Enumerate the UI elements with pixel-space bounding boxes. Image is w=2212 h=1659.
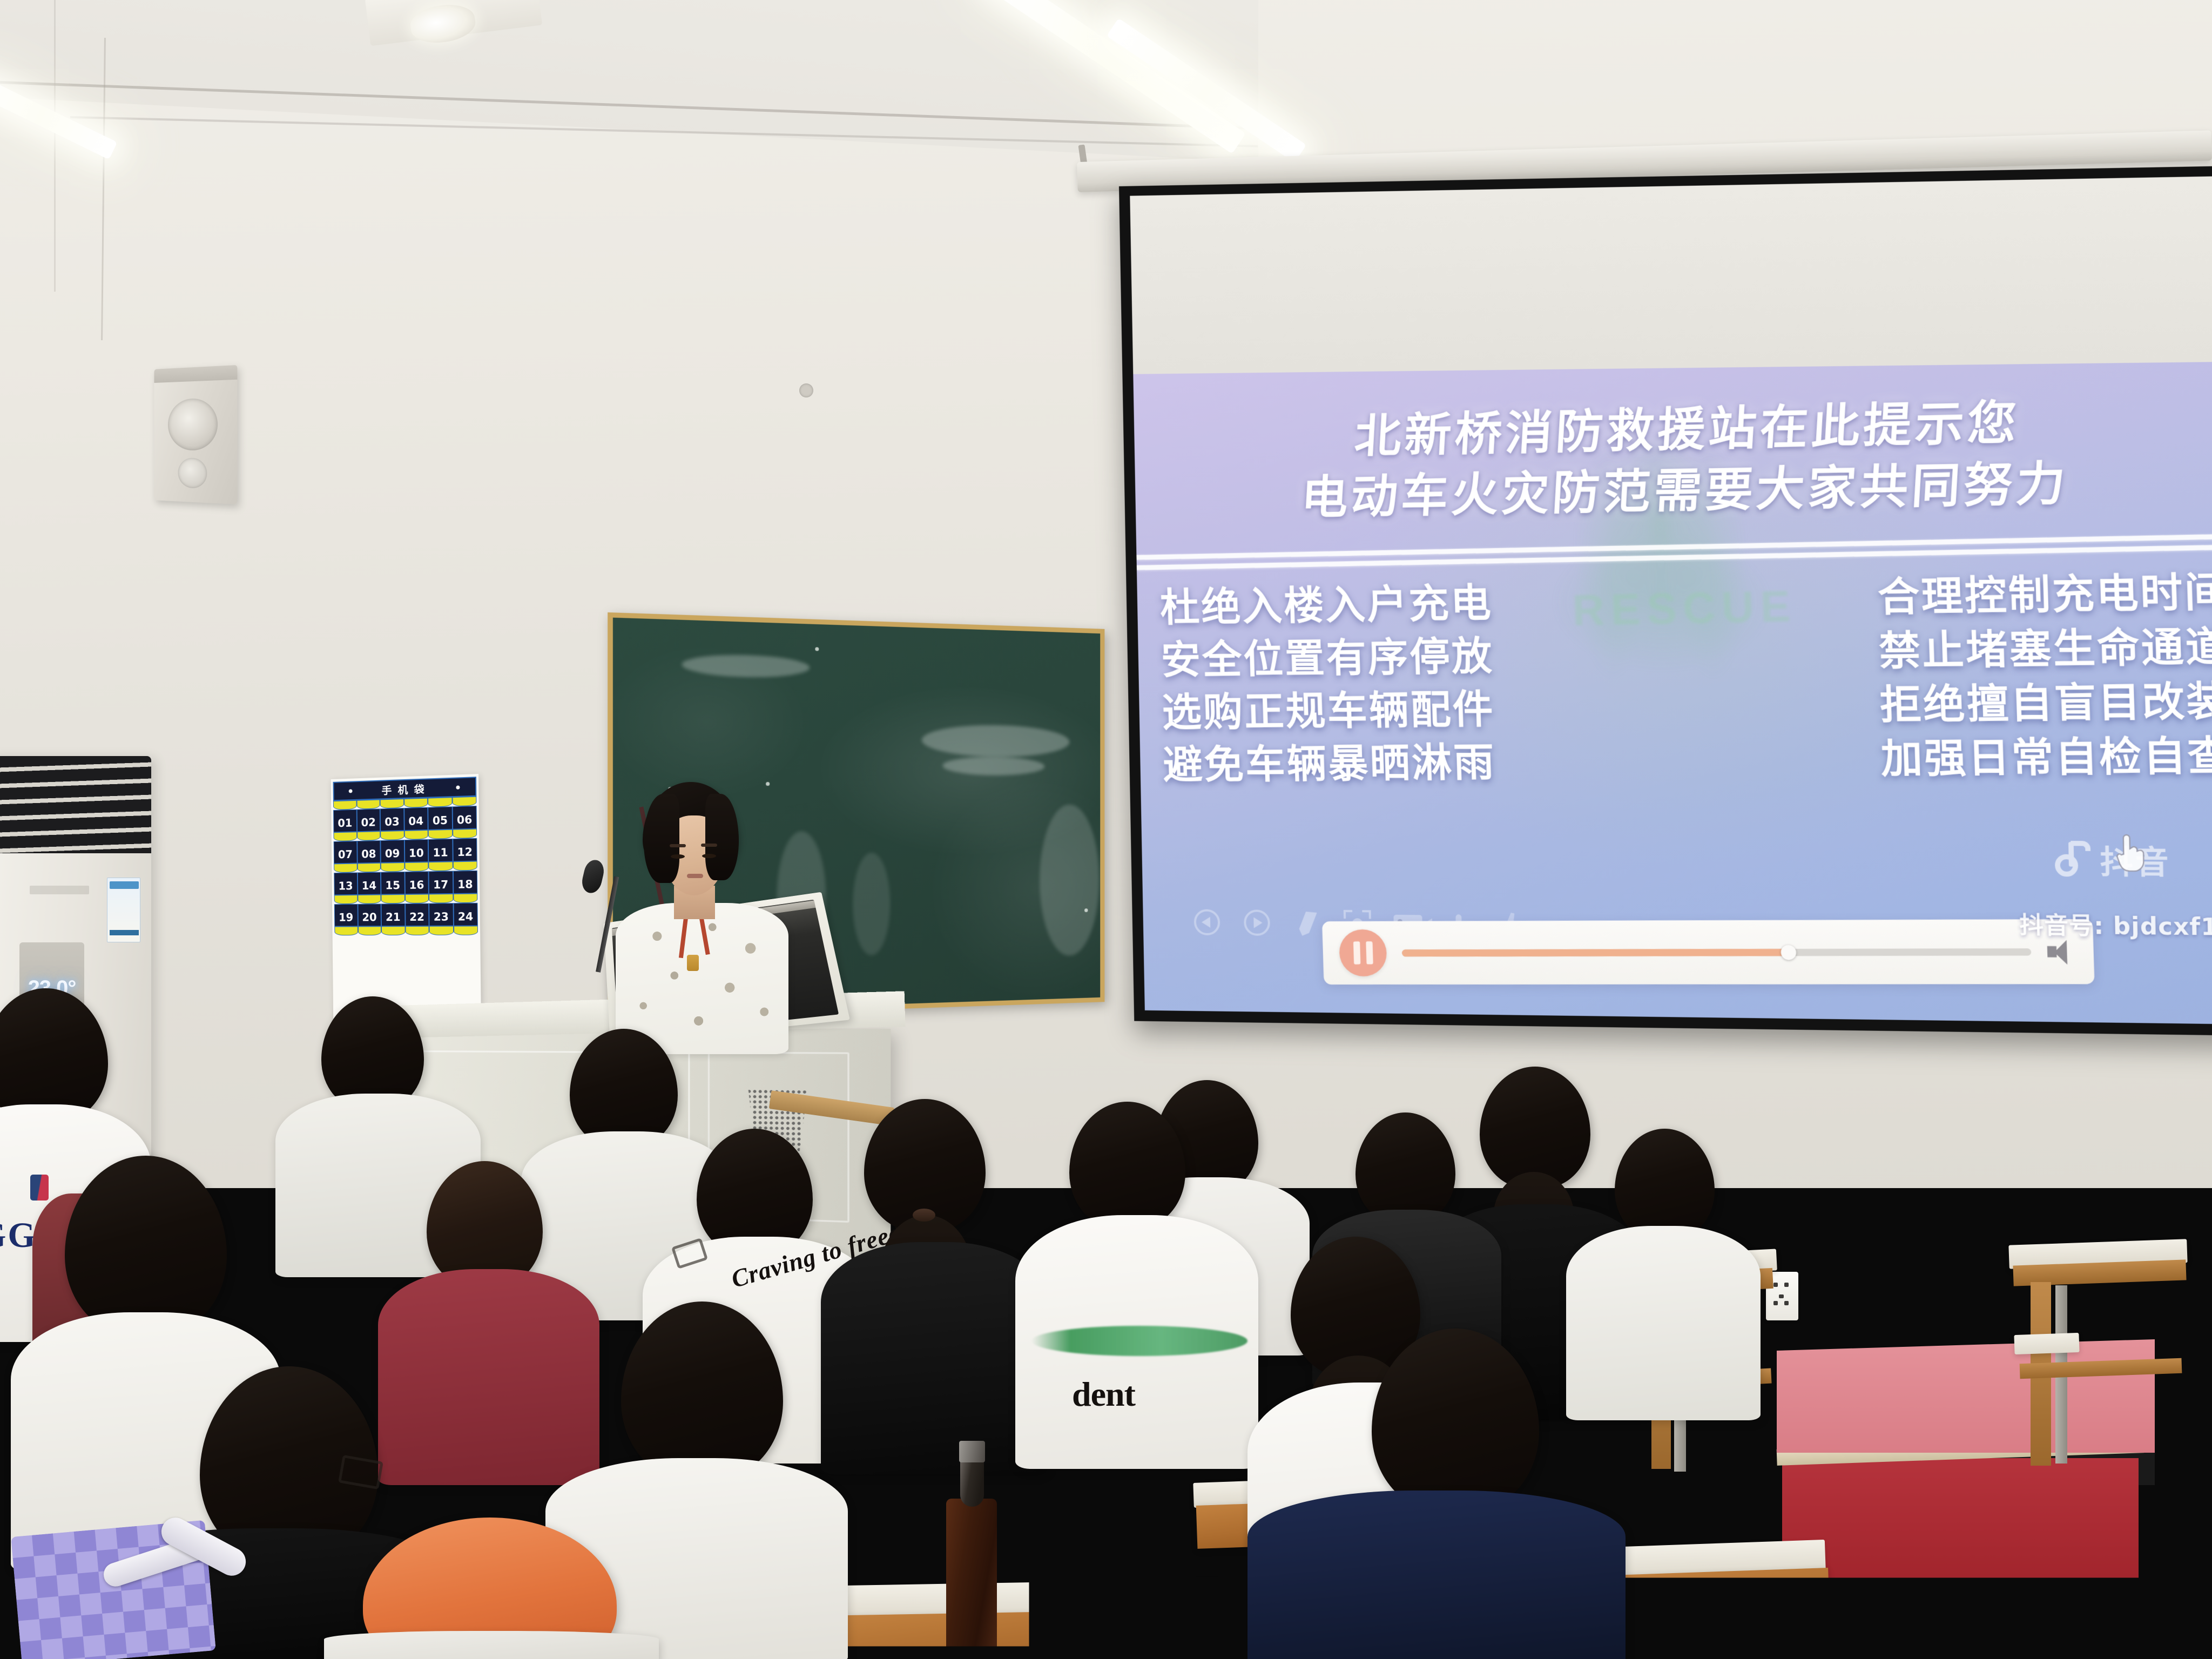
pocket-cell[interactable]: 16: [404, 871, 429, 894]
slogan-left: 避免车辆暴晒淋雨: [1163, 743, 1496, 785]
volume-icon[interactable]: [2047, 939, 2076, 965]
chalk-smudge: [853, 853, 890, 956]
pocket-flap: [404, 798, 428, 808]
sticker-footer-bar: [110, 930, 139, 935]
classroom-scene: 23.0° 手 机 袋 0102030405060708091011121314…: [0, 0, 2212, 1659]
seating-riser-front: [1782, 1458, 2139, 1620]
slogan-row: 安全位置有序停放禁止堵塞生命通道: [1161, 626, 2212, 680]
media-control-bar[interactable]: [1322, 919, 2095, 984]
student-torso: [378, 1269, 599, 1485]
previous-icon[interactable]: [1192, 908, 1221, 936]
presenter-eye: [702, 854, 716, 858]
pocket-flap: [381, 926, 405, 935]
student-torso: [821, 1242, 1048, 1474]
progress-knob[interactable]: [1781, 945, 1796, 960]
shirt-green-brushstroke: [1031, 1326, 1247, 1356]
pocket-cell[interactable]: 02: [356, 808, 380, 832]
pocket-flap: [453, 893, 478, 903]
pocket-cell[interactable]: 12: [453, 838, 477, 861]
phone-pocket-chart: 手 机 袋 0102030405060708091011121314151617…: [331, 774, 481, 1021]
pocket-flap: [404, 862, 429, 872]
pocket-cell[interactable]: 24: [453, 903, 478, 926]
pocket-cell[interactable]: 19: [334, 904, 358, 927]
air-conditioner-brand-plate: [30, 886, 89, 894]
pocket-flap: [404, 894, 429, 903]
pocket-row: 192021222324: [334, 903, 478, 927]
student-torso: [324, 1631, 659, 1659]
slide-content: RESCUE 北新桥消防救援站在此提示您 电动车火灾防范需要大家共同努力 杜绝入…: [1133, 361, 2212, 1024]
pocket-cell[interactable]: 09: [380, 840, 404, 863]
chalk-smudge: [942, 756, 1044, 775]
bottle-brand-text: 百事可乐: [949, 1581, 1012, 1604]
slogan-left: 杜绝入楼入户充电: [1159, 583, 1493, 628]
pocket-cell[interactable]: 11: [428, 839, 453, 862]
pocket-flap: [405, 926, 429, 935]
dot-decoration: [456, 785, 460, 789]
presenter-eyebrow: [670, 844, 686, 847]
pocket-flap: [428, 829, 453, 839]
pocket-flap: [357, 863, 381, 873]
slogan-row: 避免车辆暴晒淋雨加强日常自检自查: [1163, 736, 2212, 785]
pocket-flap: [381, 894, 404, 903]
wall-sensor-icon: [799, 383, 813, 397]
slide-divider: [1136, 542, 2212, 568]
pause-bar: [1353, 941, 1360, 964]
douyin-account-id: 抖音号: bjdcxf119: [2019, 906, 2212, 942]
pocket-flap: [453, 829, 477, 839]
sticker-header-bar: [110, 881, 139, 889]
pause-button[interactable]: [1339, 929, 1387, 976]
bottle-neck: [960, 1458, 984, 1507]
student-torso: [1247, 1491, 1626, 1659]
pocket-flap: [358, 895, 381, 904]
shirt-graphic-text: dent: [1072, 1374, 1135, 1414]
pocket-cell[interactable]: 13: [334, 872, 358, 895]
pocket-flap: [428, 861, 453, 871]
slogan-row: 杜绝入楼入户充电合理控制充电时间: [1159, 572, 2212, 628]
slogan-list: 杜绝入楼入户充电合理控制充电时间安全位置有序停放禁止堵塞生命通道选购正规车辆配件…: [1137, 578, 2212, 784]
pause-bar: [1366, 941, 1373, 964]
pocket-cell[interactable]: 01: [333, 810, 357, 833]
pocket-flap: [429, 926, 454, 935]
pocket-flap: [334, 926, 358, 935]
pocket-cell[interactable]: 10: [404, 839, 428, 862]
presenter-eye: [671, 854, 685, 859]
lecture-desk-front: [845, 1609, 1224, 1659]
pocket-row: 010203040506: [333, 806, 477, 832]
pocket-flap: [358, 926, 381, 935]
progress-track[interactable]: [1402, 948, 2032, 956]
pocket-flap: [334, 895, 358, 904]
presenter-eyebrow: [701, 844, 717, 847]
presenter-pendant: [687, 955, 699, 971]
pocket-cell[interactable]: 05: [428, 806, 452, 830]
slogan-right: 合理控制充电时间: [1877, 572, 2212, 618]
pocket-flap: [380, 799, 404, 808]
pocket-chart-title-text: 手 机 袋: [381, 781, 426, 797]
pocket-cell[interactable]: 17: [428, 871, 453, 894]
wall-corner-seam-left: [54, 0, 56, 292]
douyin-logo: 抖音: [2053, 837, 2171, 884]
chalk-smudge: [922, 724, 1070, 758]
progress-slider[interactable]: [1402, 947, 2032, 957]
slogan-left: 安全位置有序停放: [1161, 636, 1494, 680]
pocket-flap-row: [334, 926, 478, 935]
pocket-flap: [334, 832, 357, 841]
seating-riser-top: [1777, 1339, 2155, 1453]
pocket-flap: [452, 797, 477, 807]
projector-screen: RESCUE 北新桥消防救援站在此提示您 电动车火灾防范需要大家共同努力 杜绝入…: [1119, 165, 2212, 1036]
pocket-flap: [333, 800, 356, 810]
pocket-flap: [381, 862, 404, 872]
wall-speaker: [154, 365, 237, 504]
pocket-flap: [453, 926, 478, 935]
chalk-dot: [766, 782, 770, 786]
pocket-flap: [428, 797, 452, 807]
pocket-flap: [334, 864, 357, 873]
chalk-smudge: [682, 653, 810, 679]
pocket-cell[interactable]: 21: [381, 903, 405, 926]
slogan-right: 禁止堵塞生命通道: [1878, 626, 2212, 672]
pocket-cell[interactable]: 15: [381, 872, 404, 894]
slogan-left: 选购正规车辆配件: [1162, 690, 1495, 733]
slogan-right: 拒绝擅自盲目改装: [1879, 681, 2212, 726]
projector-screen-surface: RESCUE 北新桥消防救援站在此提示您 电动车火灾防范需要大家共同努力 杜绝入…: [1130, 176, 2212, 1024]
lecture-desk-shelf: [2014, 1333, 2079, 1354]
speaker-tweeter-icon: [178, 457, 207, 488]
pocket-flap: [357, 831, 381, 841]
pocket-row: 070809101112: [334, 838, 477, 864]
pocket-flap: [380, 831, 404, 840]
hand-pointer-cursor: [2113, 831, 2147, 873]
energy-label-sticker: [107, 878, 140, 942]
play-icon[interactable]: [1243, 908, 1271, 937]
pocket-grid: 0102030405060708091011121314151617181920…: [333, 797, 478, 936]
pen-icon[interactable]: [1293, 909, 1322, 938]
pocket-cell[interactable]: 08: [357, 840, 381, 864]
slide-headline: 北新桥消防救援站在此提示您 电动车火灾防范需要大家共同努力: [1131, 387, 2212, 531]
pocket-cell[interactable]: 14: [357, 872, 381, 895]
pocket-cell[interactable]: 03: [380, 808, 404, 831]
presenter-hair-left: [644, 794, 679, 883]
douyin-music-note-icon: [2053, 841, 2092, 878]
chalk-dot: [815, 647, 819, 651]
pocket-flap: [453, 861, 477, 871]
pocket-flap: [429, 894, 453, 903]
dot-decoration: [348, 789, 352, 793]
chalk-smudge: [1040, 805, 1099, 956]
pocket-cell[interactable]: 20: [358, 903, 381, 926]
pocket-row: 131415161718: [334, 871, 477, 895]
slogan-right: 加强日常自检自查: [1880, 736, 2212, 779]
presenter-mouth: [687, 874, 703, 878]
progress-fill: [1402, 948, 1789, 956]
air-conditioner-vent: [0, 756, 151, 853]
pocket-cell[interactable]: 22: [405, 903, 429, 926]
pocket-cell[interactable]: 18: [453, 871, 477, 894]
pocket-cell[interactable]: 23: [429, 903, 453, 926]
student-torso: [1566, 1226, 1761, 1420]
bottle-cap: [959, 1441, 985, 1462]
pocket-cell[interactable]: 04: [404, 807, 428, 831]
pepsi-logo-icon: [952, 1542, 983, 1574]
speaker-cone-icon: [168, 398, 218, 451]
pocket-cell[interactable]: 06: [452, 806, 477, 829]
pocket-cell[interactable]: 07: [334, 841, 358, 864]
hair-tie: [913, 1209, 935, 1222]
screen-blank-area: [1130, 176, 2212, 374]
pocket-flap: [404, 830, 428, 840]
nba-logo-icon: [30, 1175, 49, 1201]
slogan-row: 选购正规车辆配件拒绝擅自盲目改装: [1162, 681, 2212, 733]
pocket-flap: [356, 799, 380, 809]
